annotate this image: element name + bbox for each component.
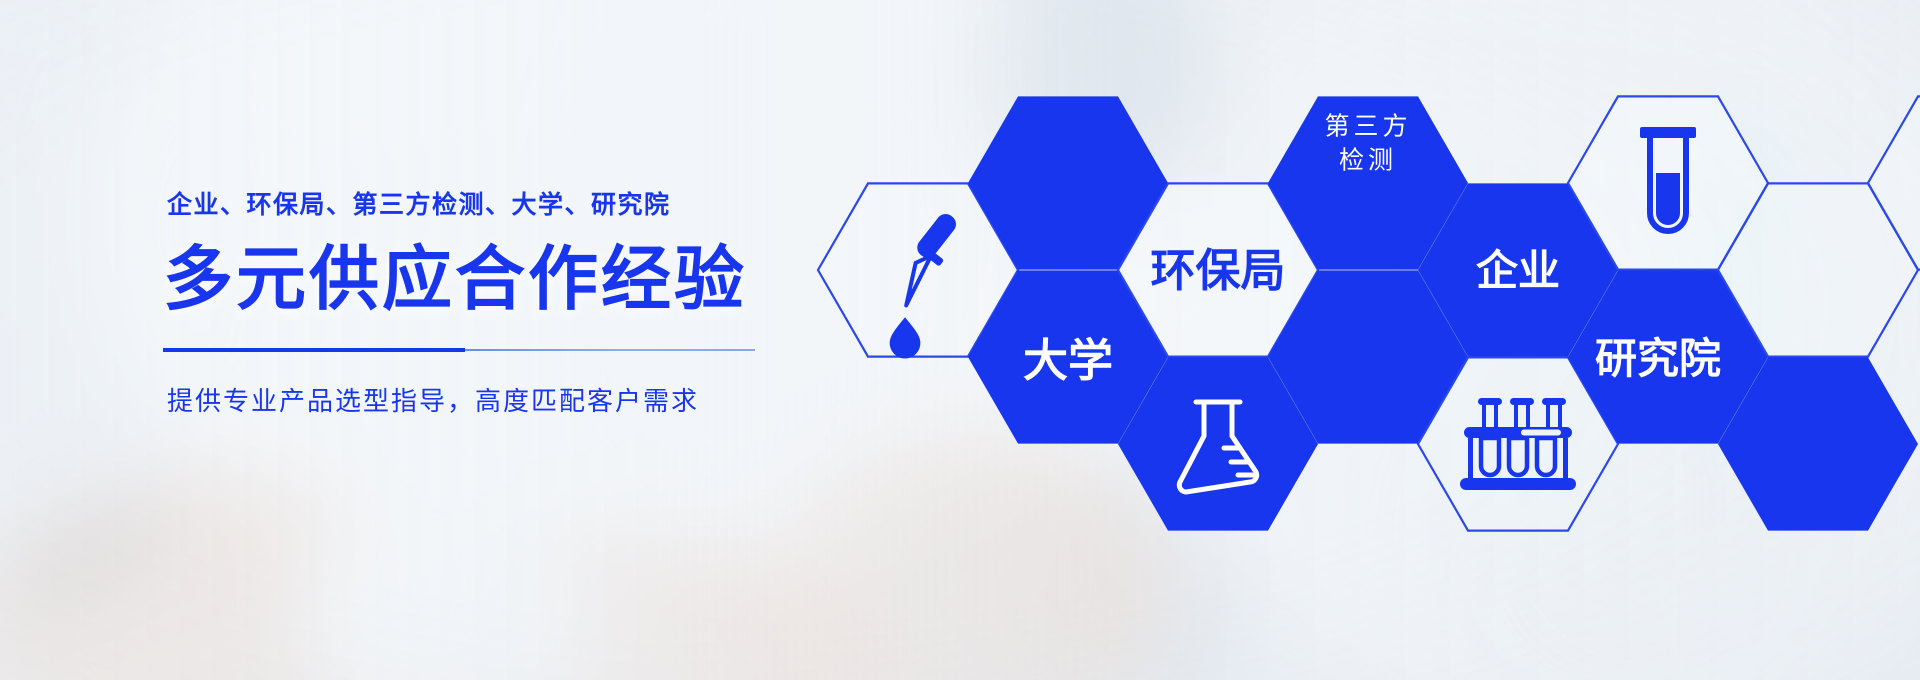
banner-text-block: 企业、环保局、第三方检测、大学、研究院 多元供应合作经验 提供专业产品选型指导，… — [163, 190, 883, 419]
banner-eyebrow: 企业、环保局、第三方检测、大学、研究院 — [167, 190, 883, 220]
hex-label-daxue: 大学 — [1023, 335, 1113, 386]
hex-label-disanfang-line2: 检测 — [1339, 147, 1397, 175]
divider-segment-faint — [465, 349, 755, 351]
hex-label-huanbaoju: 环保局 — [1150, 245, 1285, 296]
hex-label-yanjiuyuan: 研究院 — [1595, 335, 1721, 382]
banner-headline: 多元供应合作经验 — [163, 242, 883, 316]
banner-subline: 提供专业产品选型指导，高度匹配客户需求 — [167, 385, 883, 419]
banner-divider — [163, 348, 755, 352]
divider-segment-strong — [163, 348, 465, 352]
hex-label-qiye: 企业 — [1476, 247, 1560, 294]
promo-banner: 大学 环保局 第三方 — [0, 0, 1920, 680]
hex-label-disanfang-line1: 第三方 — [1324, 113, 1411, 141]
